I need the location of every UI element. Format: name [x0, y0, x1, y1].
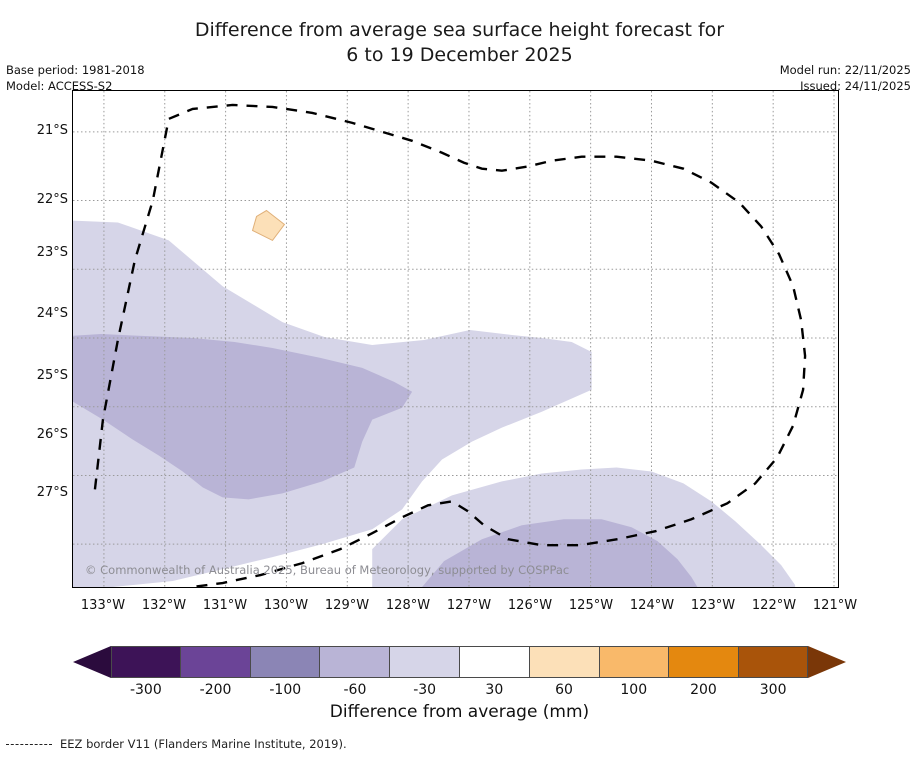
- footer-legend-label: EEZ border V11 (Flanders Marine Institut…: [60, 737, 347, 751]
- colorbar-tick-neg60: -60: [320, 682, 390, 698]
- colorbar-tick-200: 200: [668, 682, 738, 698]
- x-tick-128W: 128°W: [373, 598, 443, 613]
- colorbar-swatches: [111, 646, 808, 678]
- colorbar-title: Difference from average (mm): [0, 702, 919, 722]
- plot-clip: [73, 91, 838, 587]
- colorbar-tick-neg200: -200: [181, 682, 251, 698]
- y-tick-24S: 24°S: [18, 306, 68, 321]
- colorbar-swatch-6: [530, 646, 600, 678]
- y-tick-23S: 23°S: [18, 245, 68, 260]
- colorbar-tick-30: 30: [459, 682, 529, 698]
- colorbar-swatch-8: [669, 646, 739, 678]
- copyright-watermark: © Commonwealth of Australia 2025, Bureau…: [85, 563, 569, 577]
- colorbar-swatch-7: [600, 646, 670, 678]
- y-tick-26S: 26°S: [18, 427, 68, 442]
- x-tick-129W: 129°W: [312, 598, 382, 613]
- colorbar-tick-100: 100: [599, 682, 669, 698]
- colorbar-swatch-4: [390, 646, 460, 678]
- colorbar-tick-neg100: -100: [250, 682, 320, 698]
- x-tick-126W: 126°W: [495, 598, 565, 613]
- x-tick-124W: 124°W: [617, 598, 687, 613]
- colorbar-swatch-5: [460, 646, 530, 678]
- x-tick-125W: 125°W: [556, 598, 626, 613]
- colorbar-tick-neg300: -300: [111, 682, 181, 698]
- colorbar-swatch-2: [251, 646, 321, 678]
- footer-legend: EEZ border V11 (Flanders Marine Institut…: [6, 737, 347, 751]
- x-tick-121W: 121°W: [800, 598, 870, 613]
- y-tick-27S: 27°S: [18, 485, 68, 500]
- contour-patch-positive: [253, 211, 285, 241]
- map-contour-layer: [73, 91, 838, 587]
- colorbar-over-arrow: [808, 646, 846, 678]
- page-title: Difference from average sea surface heig…: [0, 18, 919, 68]
- colorbar-swatch-0: [111, 646, 181, 678]
- x-tick-130W: 130°W: [251, 598, 321, 613]
- colorbar-tick-neg30: -30: [390, 682, 460, 698]
- model-run-text: Model run: 22/11/2025: [780, 62, 911, 78]
- x-tick-123W: 123°W: [678, 598, 748, 613]
- x-tick-127W: 127°W: [434, 598, 504, 613]
- plot-frame: [72, 90, 839, 588]
- figure-root: Difference from average sea surface heig…: [0, 0, 919, 758]
- base-period-text: Base period: 1981-2018: [6, 62, 145, 78]
- x-tick-133W: 133°W: [68, 598, 138, 613]
- map-plot: [72, 90, 839, 588]
- eez-border-dash-icon: [6, 744, 52, 745]
- y-tick-22S: 22°S: [18, 192, 68, 207]
- y-tick-21S: 21°S: [18, 123, 68, 138]
- x-tick-132W: 132°W: [129, 598, 199, 613]
- x-tick-122W: 122°W: [739, 598, 809, 613]
- colorbar-swatch-3: [320, 646, 390, 678]
- colorbar-swatch-9: [739, 646, 808, 678]
- colorbar: -300-200-100-60-303060100200300 Differen…: [0, 640, 919, 710]
- colorbar-tick-60: 60: [529, 682, 599, 698]
- y-tick-25S: 25°S: [18, 368, 68, 383]
- colorbar-tick-300: 300: [738, 682, 808, 698]
- x-tick-131W: 131°W: [190, 598, 260, 613]
- colorbar-swatch-1: [181, 646, 251, 678]
- colorbar-under-arrow: [73, 646, 111, 678]
- title-line-1: Difference from average sea surface heig…: [0, 18, 919, 43]
